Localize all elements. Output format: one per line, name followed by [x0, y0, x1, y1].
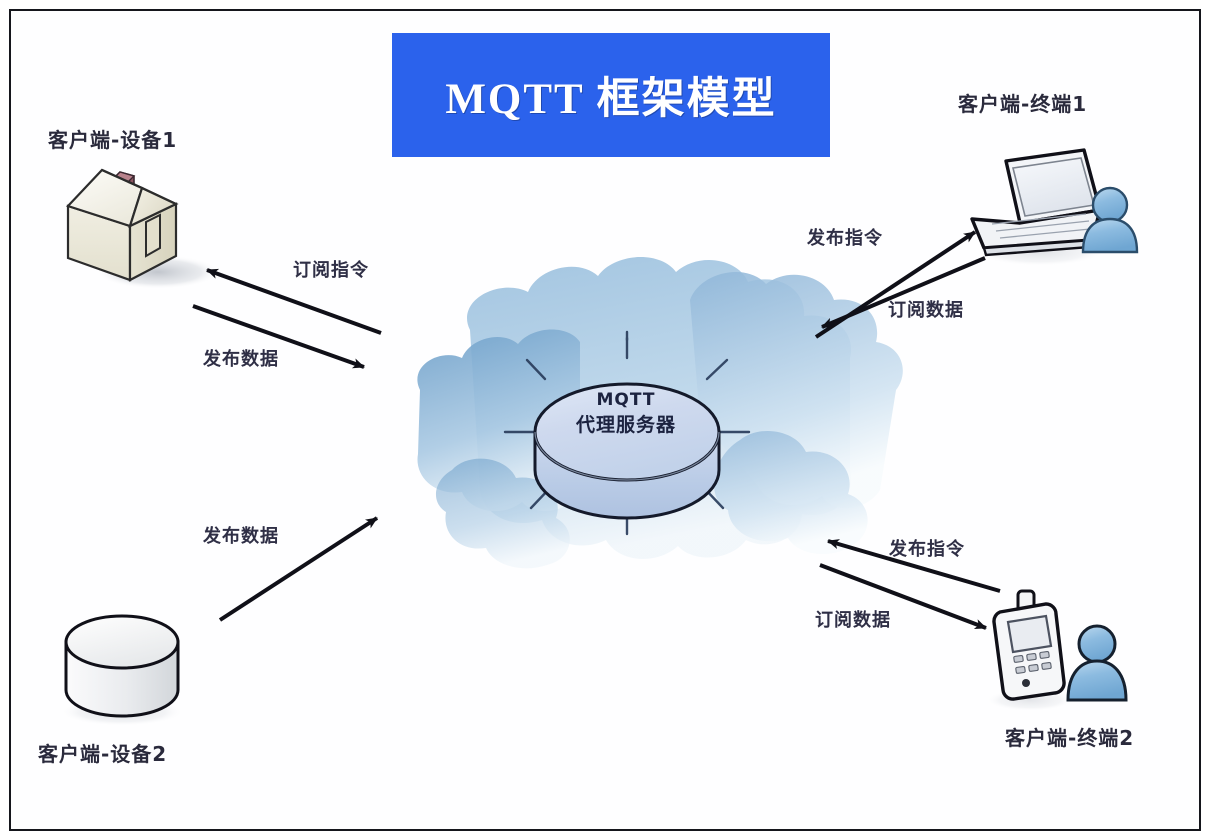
edge-label-subscribe-data-terminal1: 订阅数据: [888, 296, 964, 322]
edge-label-publish-command-terminal1: 发布指令: [807, 224, 883, 250]
edge-label-subscribe-data-terminal2: 订阅数据: [815, 606, 891, 632]
edge-label-publish-data-device1: 发布数据: [203, 345, 279, 371]
edge-label-publish-command-terminal2: 发布指令: [889, 535, 965, 561]
database-cylinder-icon: [60, 616, 184, 726]
node-label-terminal1: 客户端-终端1: [958, 88, 1087, 117]
mobile-phone-icon: [986, 591, 1074, 711]
broker-cylinder: [535, 384, 719, 518]
edge-label-publish-data-device2: 发布数据: [203, 522, 279, 548]
node-label-device2: 客户端-设备2: [38, 738, 167, 767]
title-banner: MQTT 框架模型: [392, 33, 830, 157]
node-label-terminal2: 客户端-终端2: [1005, 722, 1134, 751]
diagram-page: MQTT 框架模型 MQTT 代理服务器 客户端-设备1 客户端-设备2 客户端…: [0, 0, 1210, 840]
page-title: MQTT 框架模型: [445, 64, 776, 126]
house-icon: [68, 170, 220, 289]
edge-label-subscribe-command-device1: 订阅指令: [293, 256, 369, 282]
avatar: [1068, 626, 1126, 700]
node-label-device1: 客户端-设备1: [48, 124, 177, 153]
